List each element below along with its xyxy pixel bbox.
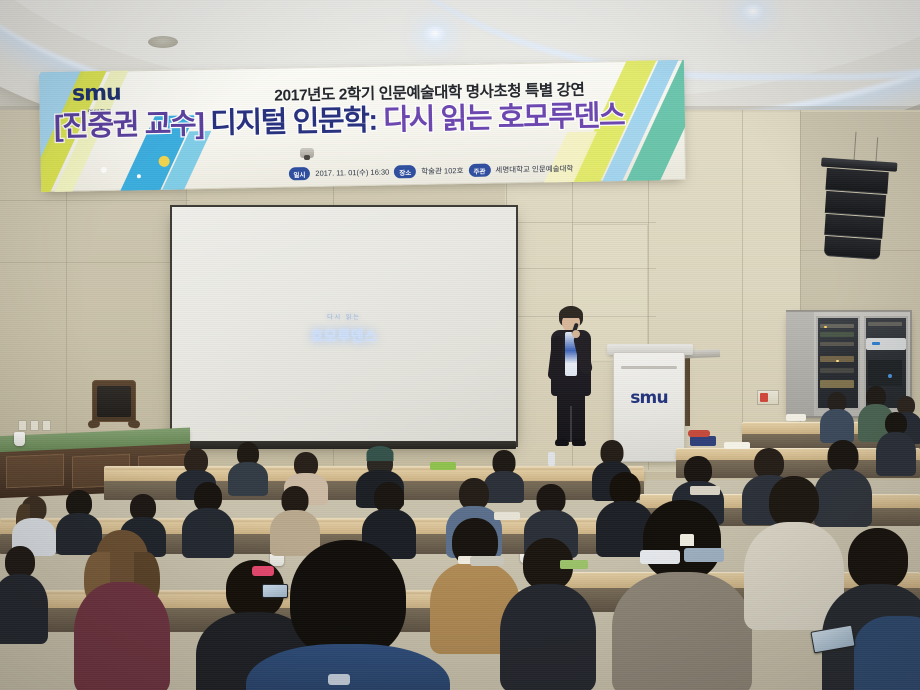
av-rack-unit-6 (820, 380, 854, 388)
lecture-hall-photo: smu 세명대학교 2017년도 2학기 인문예술대학 명사초청 특별 강연 [… (0, 0, 920, 690)
paper-m1 (494, 512, 520, 520)
banner-title-professor: [진중권 교수] (54, 108, 204, 143)
projection-screen: 다시 읽는 호모루덴스 (170, 205, 518, 447)
pink-pouch (252, 566, 274, 576)
av-rack-unit-5 (820, 368, 854, 373)
av-rack-unit-8 (868, 360, 902, 386)
shirt-collar (328, 674, 350, 685)
person-body (500, 584, 596, 690)
banner-pill-host: 주관 (468, 164, 490, 177)
banner-location-value: 학술관 102호 (421, 165, 463, 177)
person-head (848, 528, 908, 590)
speaker-module-4 (824, 236, 881, 260)
av-rack-unit-7 (868, 322, 902, 326)
paper-standing (680, 534, 694, 546)
audience-person-m1 (12, 496, 56, 552)
person-body (74, 582, 170, 690)
person-body-hoodie (612, 572, 752, 690)
head-table-panel-1 (6, 454, 64, 489)
wall-seam-h2 (0, 262, 190, 263)
projection-screen-bottom-bar (168, 441, 516, 449)
chair-cushion (97, 386, 131, 417)
paper-mr1 (724, 442, 750, 449)
audience-person-f1 (0, 546, 48, 642)
person-body (876, 432, 916, 476)
ceiling-spotlight-2 (742, 4, 764, 20)
glasses-case (470, 556, 504, 566)
presenter-hair-front (559, 308, 583, 318)
wall-seam-7 (742, 110, 743, 470)
banner-date-value: 2017. 11. 01(수) 16:30 (315, 166, 389, 178)
phone-screen (263, 585, 287, 597)
wall-outlet-2 (30, 420, 39, 431)
podium-smu-logo: smu (613, 388, 685, 408)
green-notebook (430, 462, 456, 470)
chair-armrest-left (88, 419, 101, 429)
person-body (182, 508, 234, 558)
wall-seam-h1 (0, 200, 190, 201)
audience-person-m4 (182, 482, 234, 554)
wall-outlet-3 (42, 420, 51, 431)
presenter-hand (572, 330, 580, 338)
banner-dot-2 (101, 167, 107, 173)
av-rack-led-3 (872, 342, 880, 345)
person-head (290, 540, 406, 658)
pencil-case (684, 548, 724, 562)
av-rack-side-panel (786, 312, 814, 416)
banner-host-value: 세명대학교 인문예술대학 (495, 163, 573, 175)
person-body (820, 409, 854, 443)
wall-seam-h3 (506, 222, 656, 223)
person-body (0, 574, 48, 644)
av-rack-unit-3 (820, 342, 854, 346)
ceiling-downlight-1 (148, 36, 178, 48)
banner-dot-3 (137, 174, 141, 178)
person-head (769, 476, 819, 528)
banner-title-digital: 디지털 인문학: (210, 105, 377, 140)
av-rack-led-2 (836, 360, 839, 362)
notebook-br1 (786, 414, 806, 421)
paper-rm1 (690, 486, 720, 495)
audience-person-f2-maroon (74, 530, 170, 690)
event-banner: smu 세명대학교 2017년도 2학기 인문예술대학 명사초청 특별 강연 [… (39, 60, 686, 192)
audience-person-br1 (820, 392, 854, 440)
speaker-module-3 (824, 214, 883, 239)
audience-person-mr1 (876, 412, 916, 472)
person-body (854, 616, 920, 690)
tissue-pack (640, 550, 680, 564)
ceiling-camera-icon (300, 148, 314, 158)
av-rack-led-4 (888, 374, 892, 378)
projection-surface: 다시 읽는 호모루덴스 (172, 207, 516, 445)
speaker-module-1 (825, 168, 888, 194)
slide-subtitle: 다시 읽는 (172, 312, 516, 321)
banner-title-homo: 다시 읽는 호모루덴스 (383, 100, 624, 137)
speaker-module-2 (825, 191, 886, 217)
audience-person-f9 (854, 616, 920, 690)
presenter-leg-gap (570, 406, 572, 442)
emergency-exit-sign (757, 390, 779, 405)
av-rack-unit-2 (820, 332, 854, 337)
podium-trim-slot (621, 366, 677, 369)
wall-outlet-1 (18, 420, 27, 431)
smartphone-on-desk (262, 584, 288, 598)
audience-person-um2 (228, 442, 268, 492)
green-item (560, 560, 588, 569)
audience-person-foreground-denim (246, 540, 450, 690)
chair-armrest-right (128, 419, 141, 429)
banner-pill-location: 장소 (394, 165, 416, 178)
book-mr1 (690, 436, 716, 446)
presenter-shoe-left (555, 439, 569, 446)
presenter-shoe-right (572, 439, 586, 446)
slide-title: 호모루덴스 (172, 326, 516, 346)
bag-mr1 (688, 430, 710, 437)
audience-person-f6-hoodie (612, 500, 752, 690)
baseball-cap (367, 446, 394, 461)
person-body (228, 462, 268, 496)
banner-logo-text: smu (72, 82, 121, 105)
presenter (543, 306, 599, 456)
banner-pill-date: 일시 (288, 167, 310, 180)
av-rack-led-1 (824, 326, 827, 328)
water-bottle (548, 452, 555, 466)
ceiling-line-array-loudspeaker (819, 158, 894, 264)
paper-cup-head-table (14, 432, 25, 446)
ceiling-spotlight-1 (424, 26, 446, 42)
